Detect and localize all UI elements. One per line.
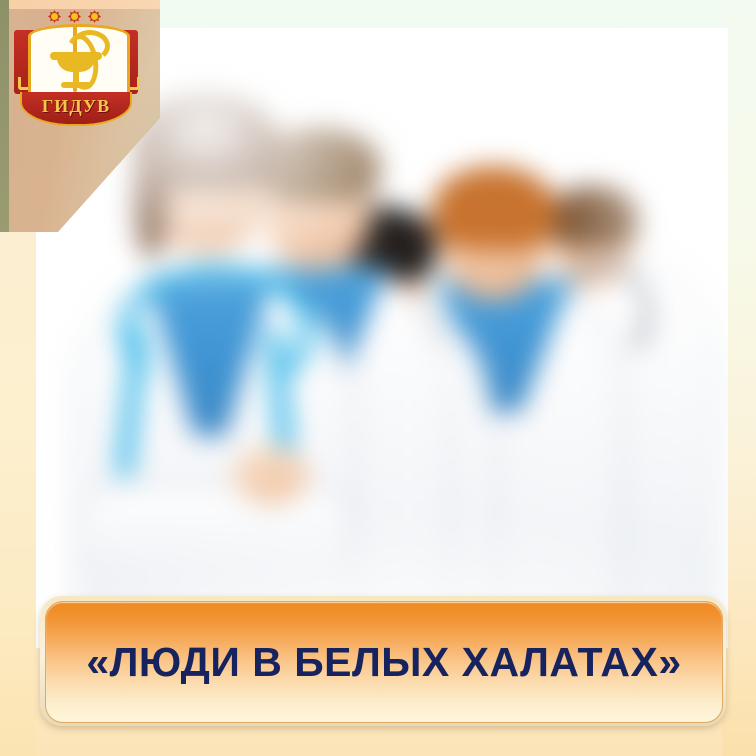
doctor-fourth-hair (432, 166, 556, 250)
sun-star-icon (68, 10, 81, 23)
title-banner-inner: «ЛЮДИ В БЕЛЫХ ХАЛАТАХ» (45, 601, 723, 723)
sun-star-icon-group (48, 10, 101, 23)
open-book-icon (14, 24, 138, 102)
giduv-emblem: ГИДУВ (12, 6, 140, 122)
page-title: «ЛЮДИ В БЕЛЫХ ХАЛАТАХ» (86, 639, 681, 686)
sun-star-icon (48, 10, 61, 23)
doctor-front-hand (234, 446, 308, 504)
bowl-of-hygieia-icon (44, 32, 108, 88)
logo-ribbon-label: ГИДУВ (20, 96, 132, 117)
snake-head-icon (70, 30, 110, 62)
poster-root: ГИДУВ «ЛЮДИ В БЕЛЫХ ХАЛАТАХ» (0, 0, 756, 756)
sun-star-icon (88, 10, 101, 23)
title-banner: «ЛЮДИ В БЕЛЫХ ХАЛАТАХ» (40, 596, 726, 726)
photo-highlight-wash-right (556, 28, 728, 388)
logo-ribbon: ГИДУВ (20, 92, 132, 126)
